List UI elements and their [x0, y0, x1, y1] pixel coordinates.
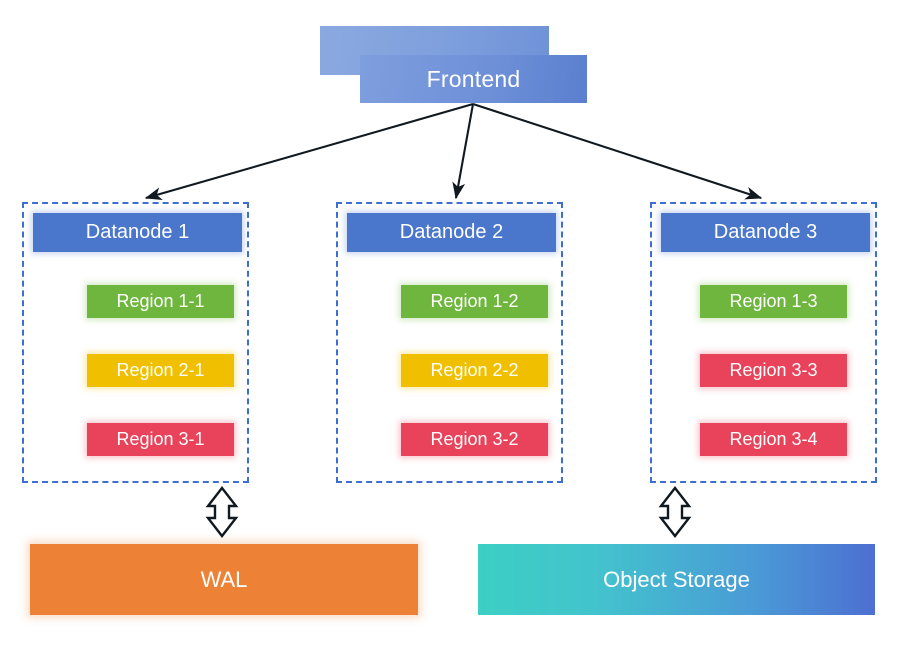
datanode-2-regions: Region 1-2 Region 2-2 Region 3-2 [338, 277, 561, 477]
region-1-3-label: Region 1-3 [729, 291, 817, 312]
wal-box[interactable]: WAL [30, 544, 418, 615]
region-3-2-label: Region 3-2 [430, 429, 518, 450]
datanode-1-container[interactable]: Datanode 1 Region 1-1 Region 2-1 Region … [22, 202, 249, 483]
datanode-3-container[interactable]: Datanode 3 Region 1-3 Region 3-3 Region … [650, 202, 877, 483]
region-3-4[interactable]: Region 3-4 [700, 423, 847, 456]
datanode-2-container[interactable]: Datanode 2 Region 1-2 Region 2-2 Region … [336, 202, 563, 483]
datanode-3-header[interactable]: Datanode 3 [661, 213, 870, 252]
region-3-1[interactable]: Region 3-1 [87, 423, 234, 456]
region-3-3[interactable]: Region 3-3 [700, 354, 847, 387]
datanode-3-title: Datanode 3 [714, 221, 817, 244]
frontend-box[interactable]: Frontend [360, 55, 587, 103]
wal-label: WAL [201, 567, 248, 593]
region-3-1-label: Region 3-1 [116, 429, 204, 450]
datanode-2-header[interactable]: Datanode 2 [347, 213, 556, 252]
datanode-1-header[interactable]: Datanode 1 [33, 213, 242, 252]
arrow-frontend-to-datanode-2 [456, 104, 473, 198]
arrow-datanode-1-wal [208, 488, 236, 536]
region-3-2[interactable]: Region 3-2 [401, 423, 548, 456]
object-storage-label: Object Storage [603, 567, 750, 593]
region-1-3[interactable]: Region 1-3 [700, 285, 847, 318]
arrow-frontend-to-datanode-1 [146, 104, 473, 198]
diagram-canvas: Frontend Datanode 1 Region 1-1 Region 2-… [0, 0, 906, 646]
region-1-1[interactable]: Region 1-1 [87, 285, 234, 318]
object-storage-box[interactable]: Object Storage [478, 544, 875, 615]
region-3-3-label: Region 3-3 [729, 360, 817, 381]
arrow-frontend-to-datanode-3 [473, 104, 761, 198]
datanode-1-regions: Region 1-1 Region 2-1 Region 3-1 [24, 277, 247, 477]
frontend-label: Frontend [427, 66, 521, 93]
region-2-2-label: Region 2-2 [430, 360, 518, 381]
region-2-1[interactable]: Region 2-1 [87, 354, 234, 387]
datanode-1-title: Datanode 1 [86, 221, 189, 244]
region-1-2[interactable]: Region 1-2 [401, 285, 548, 318]
region-1-2-label: Region 1-2 [430, 291, 518, 312]
arrow-datanode-3-object-storage [661, 488, 689, 536]
region-3-4-label: Region 3-4 [729, 429, 817, 450]
datanode-3-regions: Region 1-3 Region 3-3 Region 3-4 [652, 277, 875, 477]
datanode-2-title: Datanode 2 [400, 221, 503, 244]
region-2-2[interactable]: Region 2-2 [401, 354, 548, 387]
region-1-1-label: Region 1-1 [116, 291, 204, 312]
region-2-1-label: Region 2-1 [116, 360, 204, 381]
